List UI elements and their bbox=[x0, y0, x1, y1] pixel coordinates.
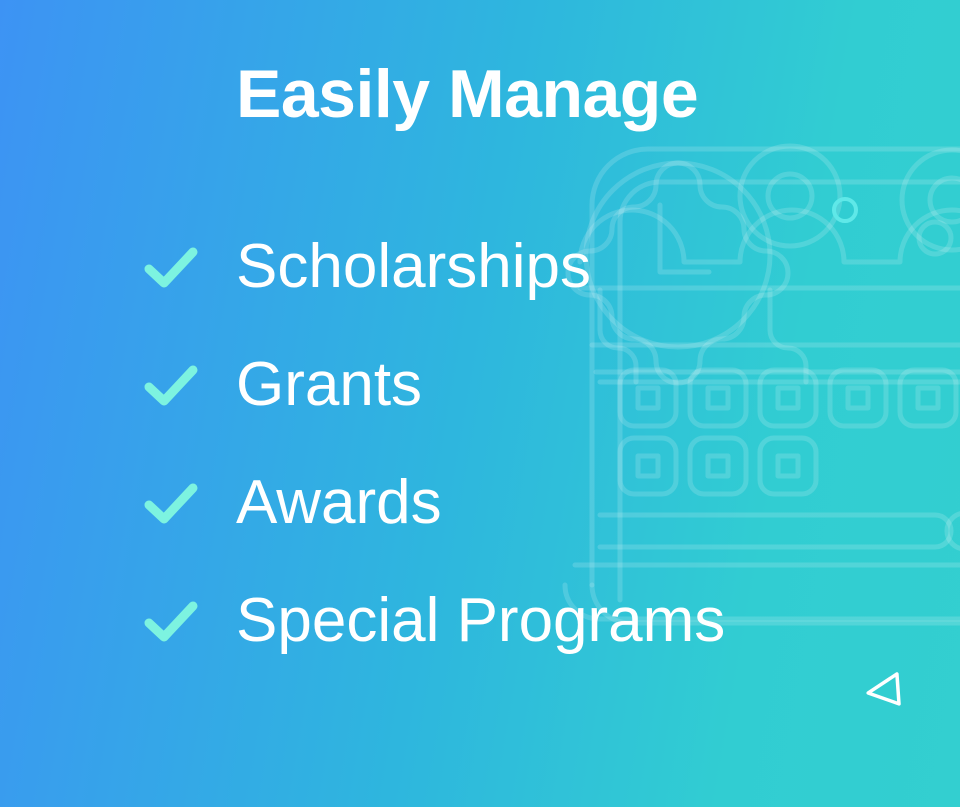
feature-list: Scholarships Grants Awards bbox=[0, 208, 960, 680]
list-item: Special Programs bbox=[0, 562, 960, 680]
check-icon bbox=[143, 239, 199, 295]
feature-label: Special Programs bbox=[236, 590, 725, 652]
list-item: Scholarships bbox=[0, 208, 960, 326]
feature-label: Scholarships bbox=[236, 236, 591, 298]
feature-label: Awards bbox=[236, 472, 442, 534]
list-item: Grants bbox=[0, 326, 960, 444]
card-content: Easily Manage Scholarships Grants bbox=[0, 0, 960, 807]
feature-label: Grants bbox=[236, 354, 422, 416]
list-item: Awards bbox=[0, 444, 960, 562]
check-icon bbox=[143, 593, 199, 649]
promo-card: Easily Manage Scholarships Grants bbox=[0, 0, 960, 807]
check-icon bbox=[143, 357, 199, 413]
check-icon bbox=[143, 475, 199, 531]
triangle-left-icon[interactable] bbox=[856, 664, 908, 716]
page-title: Easily Manage bbox=[236, 60, 698, 128]
